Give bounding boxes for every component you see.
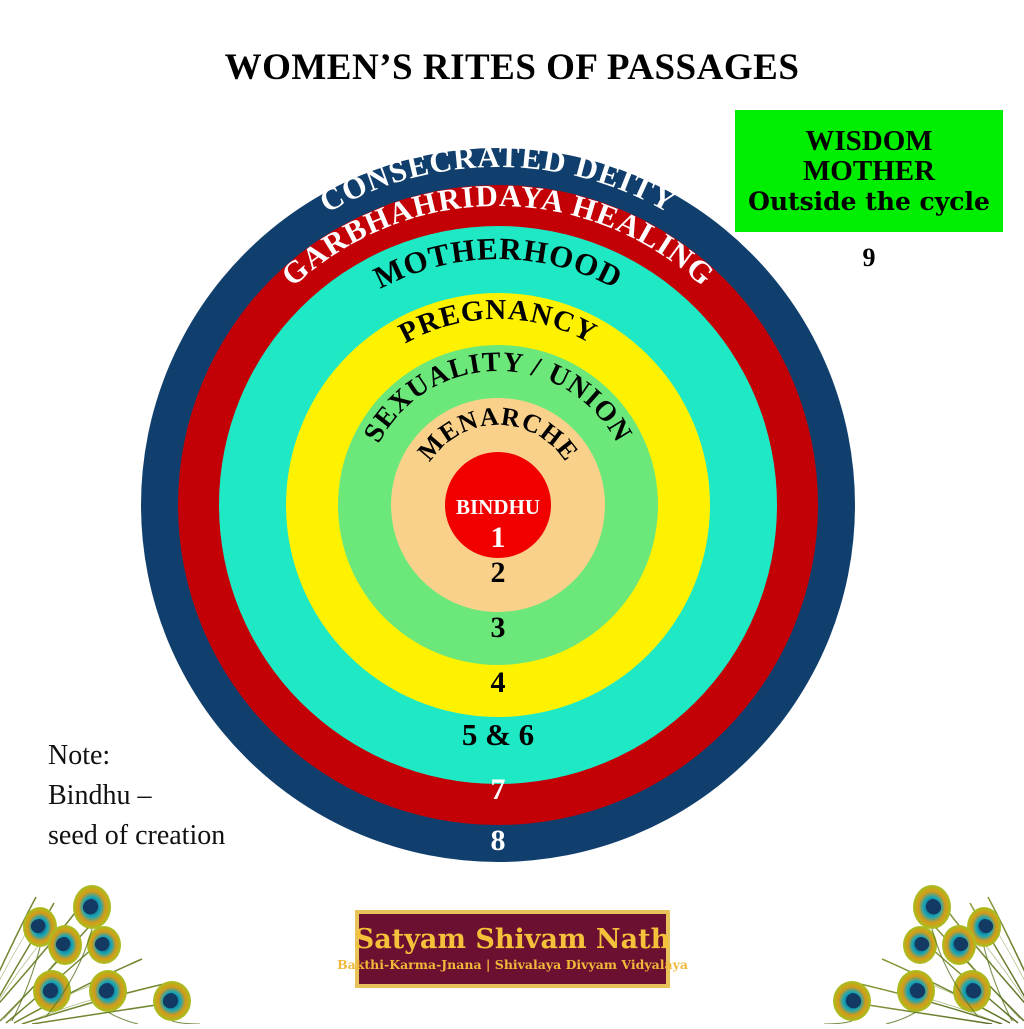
wheel-svg: CONSECRATED DEITY GARBHAHRIDAYA HEALING … xyxy=(141,148,855,862)
brand-title: Satyam Shivam Nath xyxy=(355,926,670,953)
ring-number-3: 3 xyxy=(491,611,506,644)
peacock-feather-decoration-left xyxy=(0,849,207,1024)
page-title: WOMEN’S RITES OF PASSAGES xyxy=(0,46,1024,89)
ring-number-5-and-6: 5 & 6 xyxy=(462,717,534,752)
ring-number-2: 2 xyxy=(491,556,506,589)
bindhu-center-number: 1 xyxy=(491,521,506,554)
brand-banner[interactable]: Satyam Shivam Nath Bakthi-Karma-Jnana | … xyxy=(355,910,670,988)
ring-number-7: 7 xyxy=(491,773,506,806)
bindhu-center-label: BINDHU xyxy=(456,495,540,519)
peacock-feather-icon xyxy=(817,849,1024,1024)
brand-subtitle: Bakthi-Karma-Jnana | Shivalaya Divyam Vi… xyxy=(337,957,688,972)
ring-number-4: 4 xyxy=(491,666,506,699)
rites-of-passage-wheel: CONSECRATED DEITY GARBHAHRIDAYA HEALING … xyxy=(141,148,855,862)
ring-number-8: 8 xyxy=(491,824,506,857)
peacock-feather-decoration-right xyxy=(817,849,1024,1024)
peacock-feather-icon xyxy=(0,849,207,1024)
